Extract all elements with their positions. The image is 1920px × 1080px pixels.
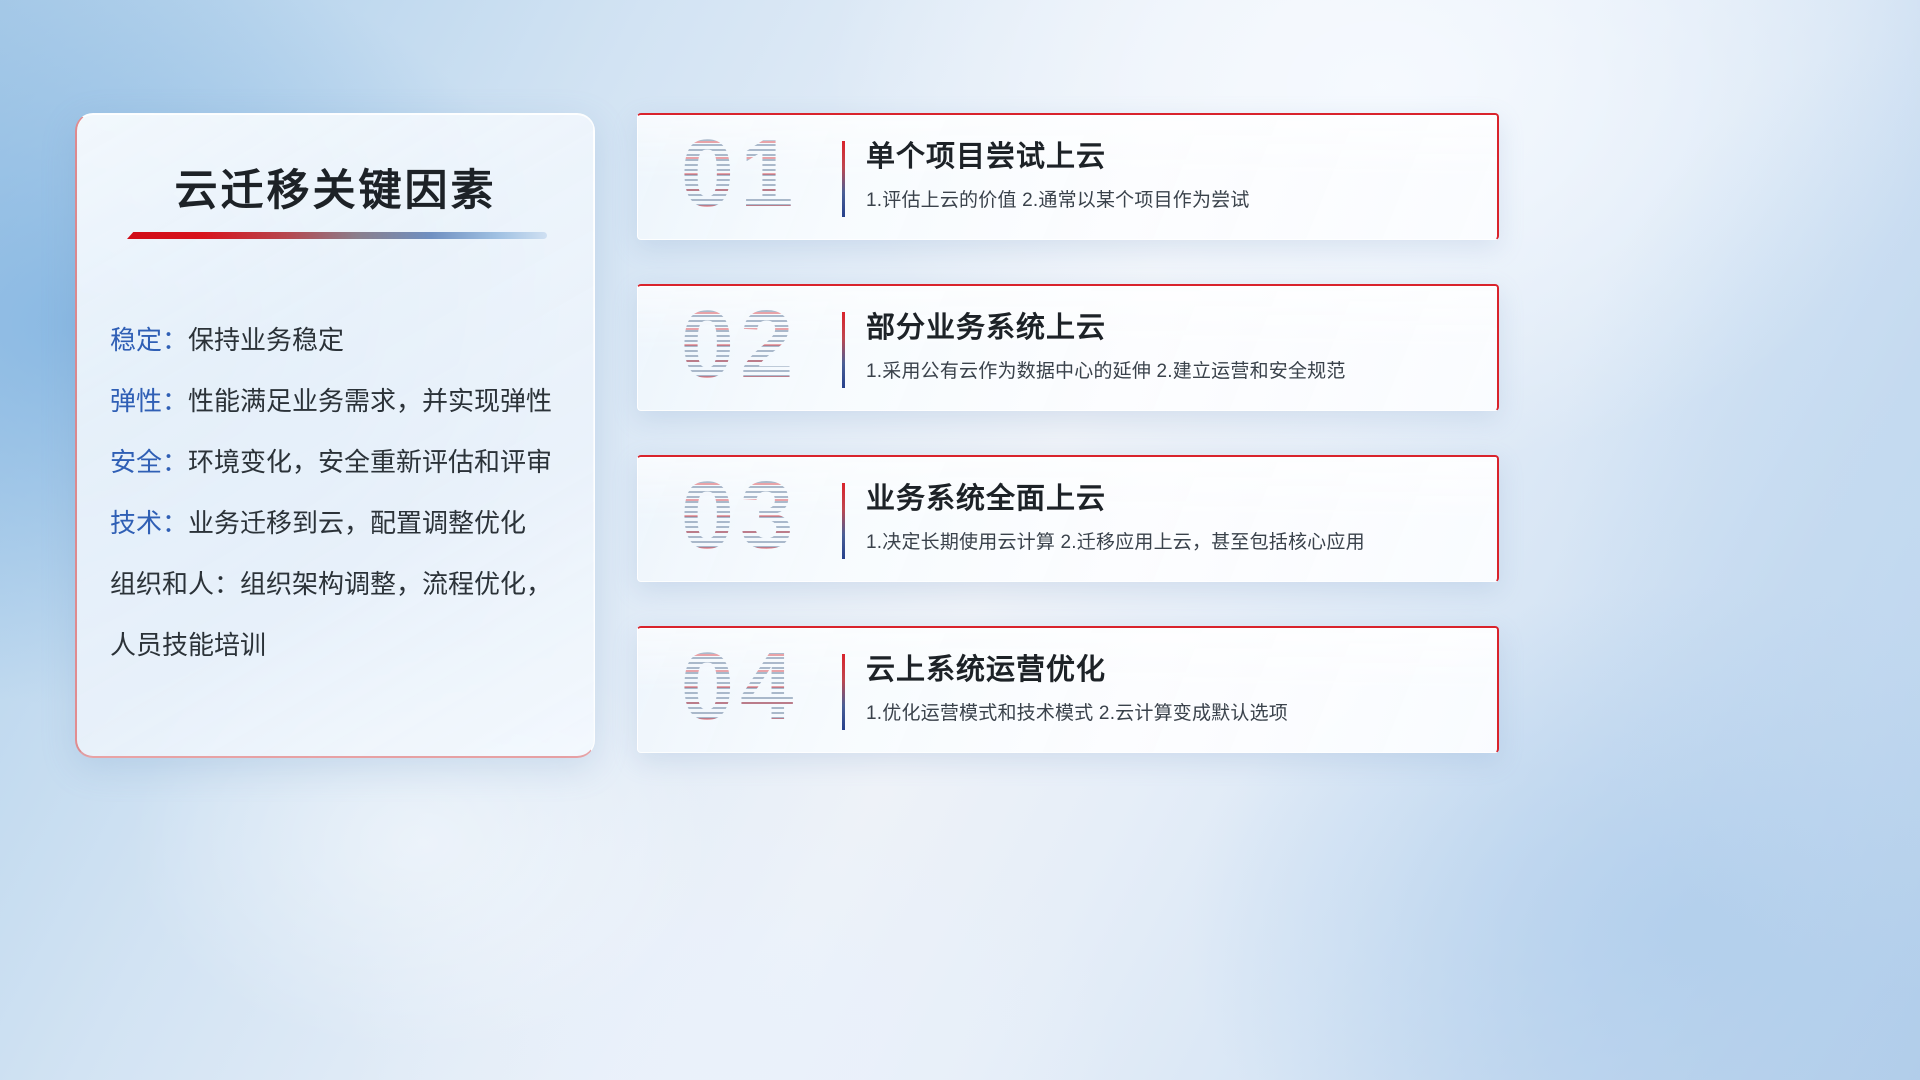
step-card-body: 云上系统运营优化 1.优化运营模式和技术模式 2.云计算变成默认选项 (866, 650, 1477, 727)
step-description: 1.评估上云的价值 2.通常以某个项目作为尝试 (866, 188, 1477, 214)
factor-label: 技术： (110, 508, 188, 538)
step-description: 1.优化运营模式和技术模式 2.云计算变成默认选项 (866, 701, 1477, 727)
factor-text: 业务迁移到云，配置调整优化 (188, 508, 526, 538)
key-factors-panel: 云迁移关键因素 稳定：保持业务稳定 弹性：性能满足业务需求，并实现弹性 安全：环… (75, 113, 595, 758)
step-card-01[interactable]: 01 01 单个项目尝试上云 1.评估上云的价值 2.通常以某个项目作为尝试 (637, 113, 1499, 240)
step-card-03[interactable]: 03 03 业务系统全面上云 1.决定长期使用云计算 2.迁移应用上云，甚至包括… (637, 455, 1499, 582)
key-factors-list: 稳定：保持业务稳定 弹性：性能满足业务需求，并实现弹性 安全：环境变化，安全重新… (110, 310, 568, 676)
card-divider-bar (842, 483, 845, 559)
title-underline-gradient (127, 232, 547, 239)
factor-text: 环境变化，安全重新评估和评审 (188, 447, 552, 477)
step-title: 云上系统运营优化 (866, 650, 1477, 690)
card-divider-bar (842, 312, 845, 388)
card-divider-bar (842, 654, 845, 730)
step-card-body: 单个项目尝试上云 1.评估上云的价值 2.通常以某个项目作为尝试 (866, 137, 1477, 214)
slide-stage: 云迁移关键因素 稳定：保持业务稳定 弹性：性能满足业务需求，并实现弹性 安全：环… (0, 0, 1920, 1080)
list-item: 弹性：性能满足业务需求，并实现弹性 (110, 371, 568, 432)
step-card-body: 部分业务系统上云 1.采用公有云作为数据中心的延伸 2.建立运营和安全规范 (866, 308, 1477, 385)
step-card-04[interactable]: 04 04 云上系统运营优化 1.优化运营模式和技术模式 2.云计算变成默认选项 (637, 626, 1499, 753)
factor-label: 稳定： (110, 325, 188, 355)
page-title: 云迁移关键因素 (77, 156, 594, 218)
step-number-watermark-accent: 04 (660, 626, 820, 752)
list-item: 安全：环境变化，安全重新评估和评审 (110, 432, 568, 493)
step-number-watermark-accent: 02 (660, 284, 820, 410)
card-divider-bar (842, 141, 845, 217)
step-card-02[interactable]: 02 02 部分业务系统上云 1.采用公有云作为数据中心的延伸 2.建立运营和安… (637, 284, 1499, 411)
step-description: 1.决定长期使用云计算 2.迁移应用上云，甚至包括核心应用 (866, 530, 1477, 556)
list-item: 组织和人：组织架构调整，流程优化，人员技能培训 (110, 554, 568, 676)
step-title: 业务系统全面上云 (866, 479, 1477, 519)
step-card-body: 业务系统全面上云 1.决定长期使用云计算 2.迁移应用上云，甚至包括核心应用 (866, 479, 1477, 556)
list-item: 稳定：保持业务稳定 (110, 310, 568, 371)
factor-label: 组织和人： (110, 569, 240, 599)
step-number-watermark-accent: 03 (660, 455, 820, 581)
factor-text: 保持业务稳定 (188, 325, 344, 355)
list-item: 技术：业务迁移到云，配置调整优化 (110, 493, 568, 554)
factor-text: 性能满足业务需求，并实现弹性 (188, 386, 552, 416)
step-title: 单个项目尝试上云 (866, 137, 1477, 177)
step-number-watermark-accent: 01 (660, 113, 820, 239)
step-description: 1.采用公有云作为数据中心的延伸 2.建立运营和安全规范 (866, 359, 1477, 385)
factor-label: 安全： (110, 447, 188, 477)
factor-label: 弹性： (110, 386, 188, 416)
step-title: 部分业务系统上云 (866, 308, 1477, 348)
